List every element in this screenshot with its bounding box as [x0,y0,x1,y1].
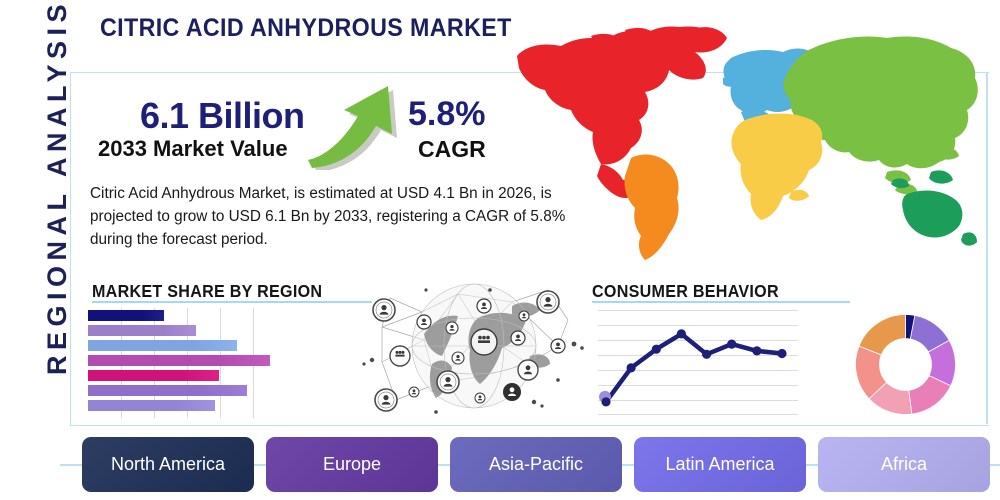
region-tab-label: Europe [323,454,381,475]
kpi-market-value-caption: 2033 Market Value [98,136,288,162]
region-tab-label: Asia-Pacific [489,454,583,475]
kpi-cagr-value: 5.8% [408,95,486,134]
region-tab-label: North America [111,454,225,475]
bar-item [88,370,219,381]
section-title-market-share: MARKET SHARE BY REGION [92,281,322,302]
bar-item [88,355,270,366]
growth-arrow-icon [300,80,410,170]
region-tab-label: Latin America [665,454,774,475]
bar-item [88,325,196,336]
bar-item [88,310,164,321]
infographic-root: REGIONAL ANALYSIS CITRIC ACID ANHYDROUS … [0,0,1000,500]
market-share-bar-chart [88,308,288,418]
section-title-consumer-behavior: CONSUMER BEHAVIOR [592,281,779,302]
region-tab-africa[interactable]: Africa [818,437,990,492]
bar-item [88,385,247,396]
section-rule-consumer-behavior [592,301,850,303]
section-rule-market-share [92,301,372,303]
bar-item [88,340,237,351]
regional-split-donut-chart [853,312,958,417]
world-map-icon [495,8,995,273]
bar-item [88,400,215,411]
kpi-cagr-caption: CAGR [418,136,486,163]
consumer-behavior-line-chart [598,310,798,415]
region-tab-north-america[interactable]: North America [82,437,254,492]
region-tab-label: Africa [881,454,927,475]
region-tab-latin-america[interactable]: Latin America [634,437,806,492]
kpi-market-value: 6.1 Billion [140,95,305,137]
region-tab-asia-pacific[interactable]: Asia-Pacific [450,437,622,492]
page-title: CITRIC ACID ANHYDROUS MARKET [100,14,512,43]
global-network-globe-icon [362,272,587,427]
region-tab-europe[interactable]: Europe [266,437,438,492]
